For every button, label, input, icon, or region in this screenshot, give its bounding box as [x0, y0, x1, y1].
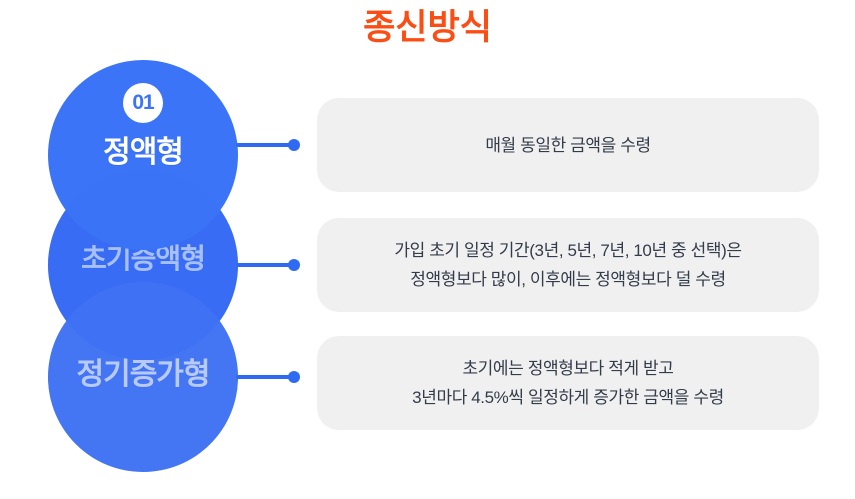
step-number-badge-01: 01	[123, 83, 163, 123]
description-box-01: 매월 동일한 금액을 수령	[317, 98, 819, 192]
connector-dot-01	[288, 139, 300, 151]
steps-column: 01 정액형 02 초기증액형 03 정기증가형	[0, 0, 300, 499]
connector-line-03	[236, 370, 300, 384]
connector-dot-03	[288, 371, 300, 383]
connector-stroke-03	[236, 375, 292, 379]
step-circle-01[interactable]: 01 정액형	[48, 60, 238, 250]
connector-line-02	[236, 258, 300, 272]
description-box-03: 초기에는 정액형보다 적게 받고 3년마다 4.5%씩 일정하게 증가한 금액을…	[317, 336, 819, 430]
connector-line-01	[236, 138, 300, 152]
connector-stroke-01	[236, 143, 292, 147]
connector-stroke-02	[236, 263, 292, 267]
description-text-02: 가입 초기 일정 기간(3년, 5년, 7년, 10년 중 선택)은 정액형보다…	[394, 236, 741, 294]
step-label-01: 정액형	[103, 127, 183, 171]
connector-dot-02	[288, 259, 300, 271]
description-box-02: 가입 초기 일정 기간(3년, 5년, 7년, 10년 중 선택)은 정액형보다…	[317, 218, 819, 312]
description-text-01: 매월 동일한 금액을 수령	[485, 131, 650, 160]
infographic-canvas: 종신방식 01 정액형 02 초기증액형 03 정기증가형 매월 동일한 금액을…	[0, 0, 855, 499]
description-text-03: 초기에는 정액형보다 적게 받고 3년마다 4.5%씩 일정하게 증가한 금액을…	[412, 354, 724, 412]
